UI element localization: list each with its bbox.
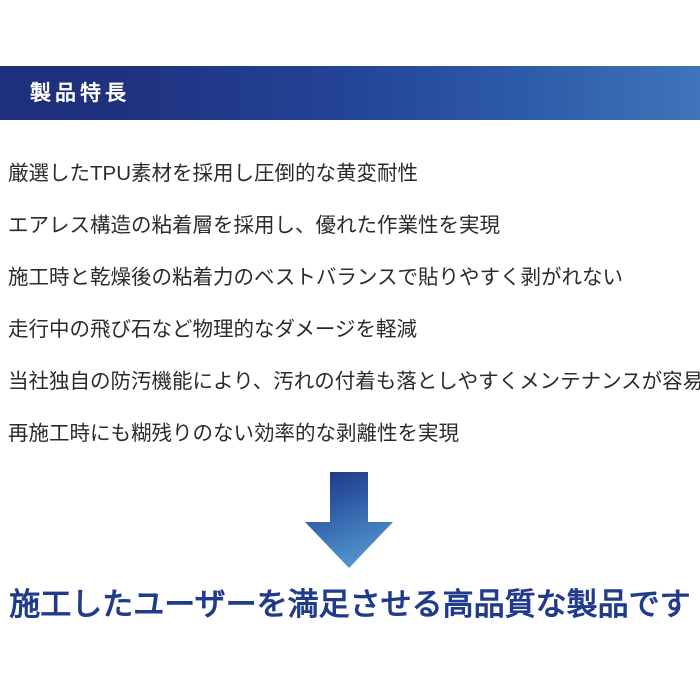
feature-list: 厳選したTPU素材を採用し圧倒的な黄変耐性 エアレス構造の粘着層を採用し、優れた… xyxy=(8,148,700,460)
list-item: エアレス構造の粘着層を採用し、優れた作業性を実現 xyxy=(8,200,700,252)
arrow-down-icon xyxy=(303,470,395,570)
list-item: 施工時と乾燥後の粘着力のベストバランスで貼りやすく剥がれない xyxy=(8,252,700,304)
section-header-bar: 製品特長 xyxy=(0,66,700,120)
list-item: 厳選したTPU素材を採用し圧倒的な黄変耐性 xyxy=(8,148,700,200)
list-item: 再施工時にも糊残りのない効率的な剥離性を実現 xyxy=(8,408,700,460)
list-item: 走行中の飛び石など物理的なダメージを軽減 xyxy=(8,304,700,356)
product-features-page: 製品特長 厳選したTPU素材を採用し圧倒的な黄変耐性 エアレス構造の粘着層を採用… xyxy=(0,0,700,700)
conclusion-headline: 施工したユーザーを満足させる高品質な製品です xyxy=(0,583,700,627)
list-item: 当社独自の防汚機能により、汚れの付着も落としやすくメンテナンスが容易 xyxy=(8,356,700,408)
page-title: 製品特長 xyxy=(30,83,130,104)
